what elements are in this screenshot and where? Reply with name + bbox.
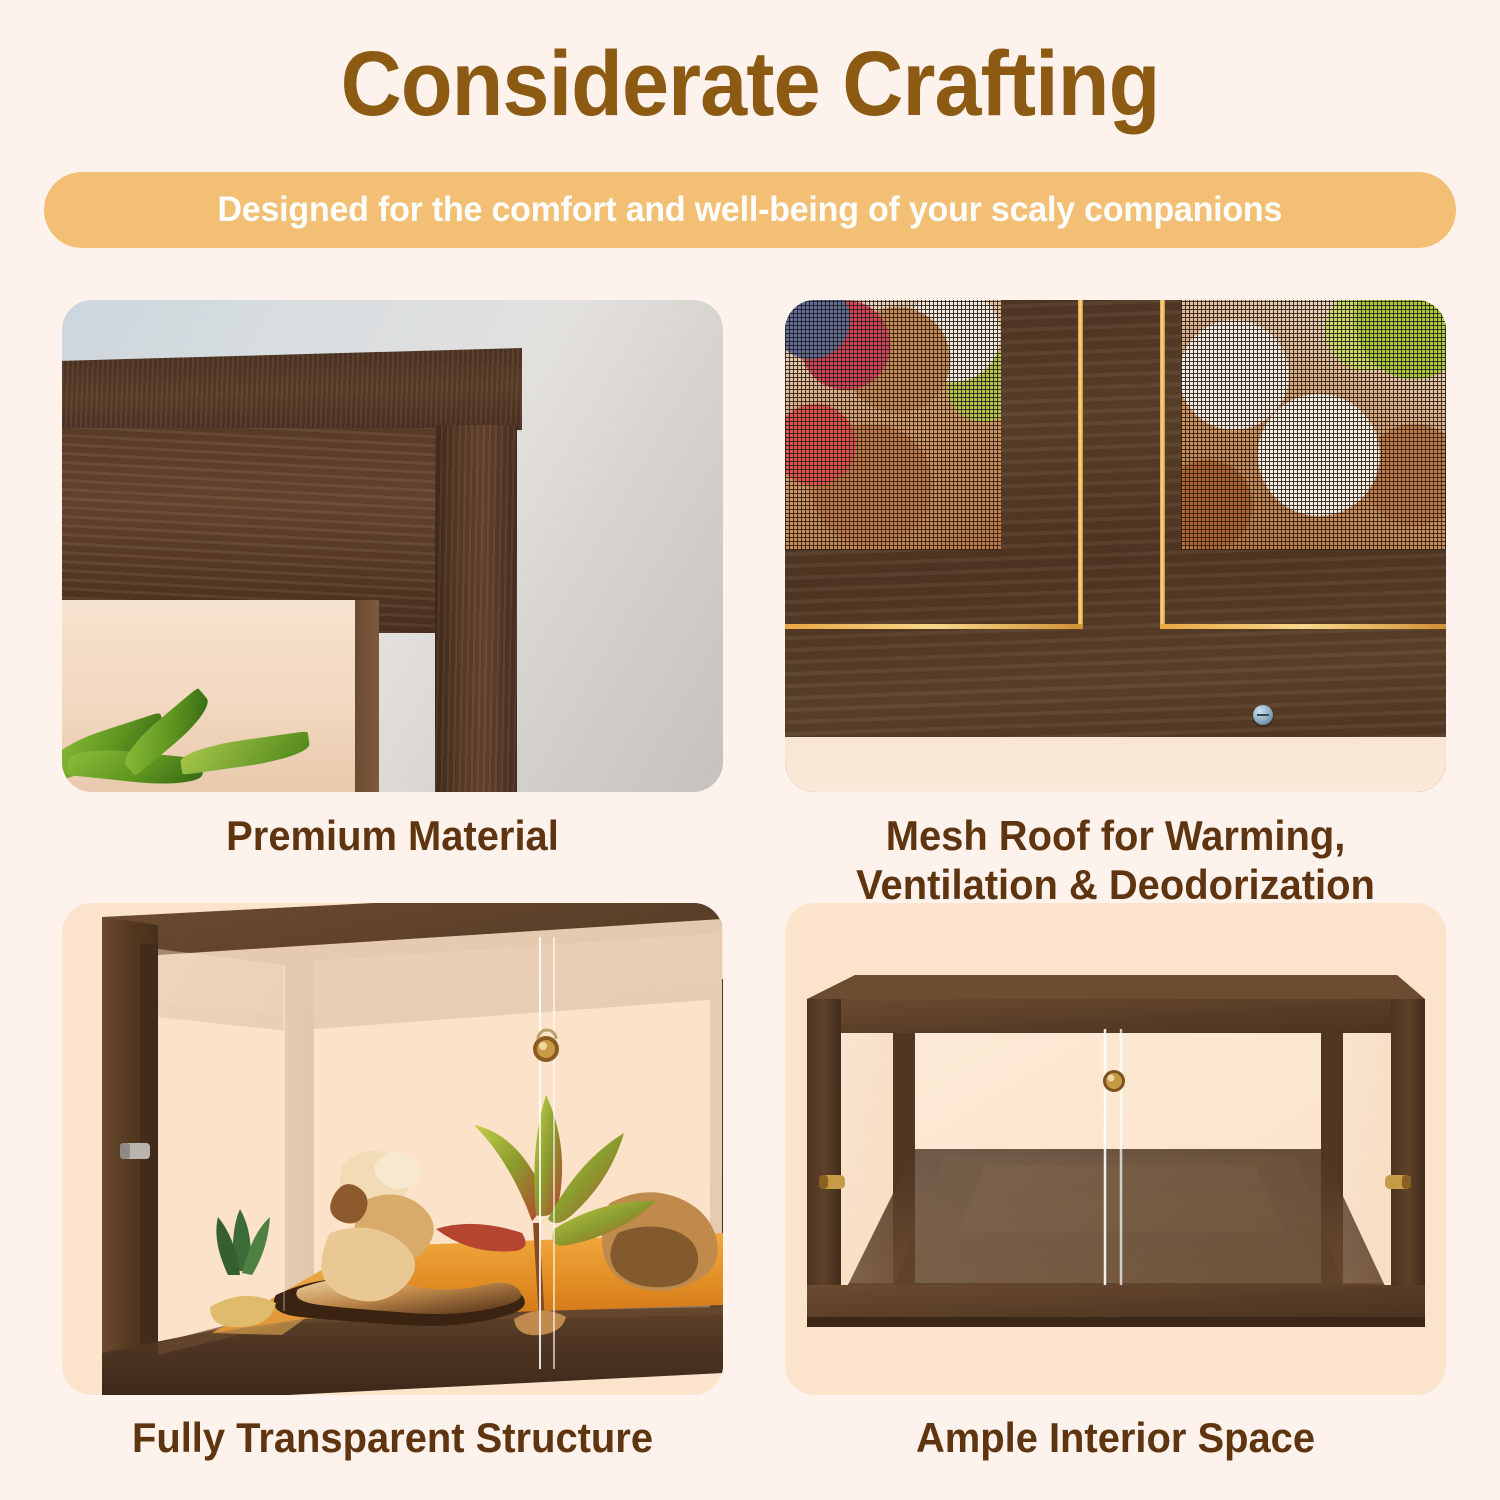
feature-image-fully-transparent-structure	[62, 903, 723, 1395]
mesh-grid-overlay	[1181, 300, 1446, 550]
wood-leg-post	[355, 600, 379, 792]
terrarium-angled-illustration	[62, 903, 723, 1395]
caption-fully-transparent-structure: Fully Transparent Structure	[79, 1414, 707, 1463]
gold-trim-horizontal-left	[785, 624, 1083, 629]
gold-trim-horizontal-right	[1160, 624, 1446, 629]
wood-corner-post	[435, 425, 517, 792]
terrarium-front-illustration	[785, 903, 1446, 1395]
caption-mesh-roof: Mesh Roof for Warming, Ventilation & Deo…	[792, 812, 1439, 909]
door-knob-icon	[1103, 1070, 1125, 1092]
gold-trim-vertical-left	[1078, 300, 1083, 628]
feature-image-premium-material	[62, 300, 723, 792]
side-knob-left-icon	[819, 1175, 845, 1189]
subtitle-banner: Designed for the comfort and well-being …	[44, 172, 1456, 248]
feature-image-ample-interior-space	[785, 903, 1446, 1395]
mesh-grid-overlay	[785, 300, 1001, 550]
side-knob-right-icon	[1385, 1175, 1411, 1189]
mesh-screen-right	[1181, 300, 1446, 550]
caption-premium-material: Premium Material	[79, 812, 707, 861]
background-strip	[785, 737, 1446, 792]
mesh-screen-left	[785, 300, 1001, 550]
gold-trim-vertical-right	[1160, 300, 1165, 628]
screw-icon	[1253, 705, 1273, 725]
subtitle-text: Designed for the comfort and well-being …	[218, 190, 1283, 230]
feature-image-mesh-roof	[785, 300, 1446, 792]
page-title: Considerate Crafting	[60, 36, 1440, 133]
side-knob-icon	[120, 1143, 150, 1159]
caption-ample-interior-space: Ample Interior Space	[802, 1414, 1430, 1463]
